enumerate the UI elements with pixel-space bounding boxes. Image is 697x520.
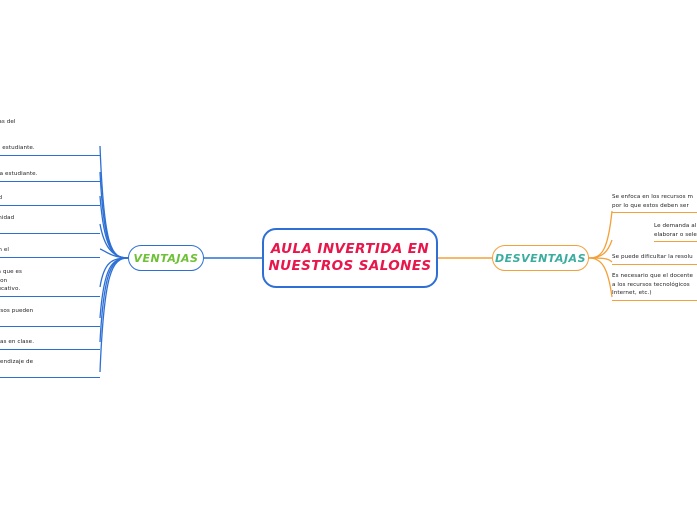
branch-node-ventajas[interactable]: VENTAJAS <box>128 245 204 271</box>
leaf-ventajas-9[interactable]: resolución de problemas en clase. <box>0 338 100 350</box>
leaf-ventajas-5[interactable]: miembros de la comunidad prendizaje. <box>0 214 100 234</box>
leaf-ventajas-6[interactable]: pensamiento critico en el <box>0 246 100 258</box>
leaf-desventajas-2[interactable]: Le demanda al elaborar o selec <box>654 222 697 242</box>
leaf-ventajas-1[interactable]: necesidades educativas del <box>0 118 100 129</box>
leaf-desventajas-3[interactable]: Se puede dificultar la resolu <box>612 253 697 265</box>
leaf-desventajas-1[interactable]: Se enfoca en los recursos m por lo que e… <box>612 193 697 213</box>
leaf-ventajas-7[interactable]: nplimiento en clase ya que es cia a los … <box>0 268 100 297</box>
central-topic-node[interactable]: AULA INVERTIDA EN NUESTROS SALONES <box>262 228 438 288</box>
leaf-desventajas-4[interactable]: Es necesario que el docente a los recurs… <box>612 272 697 301</box>
connector-group-desventajas <box>589 211 612 297</box>
leaf-ventajas-3[interactable]: de aprendizaje de cada estudiante. <box>0 170 100 182</box>
central-topic-title: AULA INVERTIDA EN NUESTROS SALONES <box>268 241 431 275</box>
connector-group-ventajas <box>100 146 128 372</box>
leaf-ventajas-2[interactable]: del docente para cada estudiante. <box>0 144 100 156</box>
leaf-ventajas-4[interactable]: pacio de interactividad <box>0 194 100 206</box>
leaf-ventajas-10[interactable]: ables de su propio aprendizaje de uía de… <box>0 358 100 378</box>
leaf-ventajas-8[interactable]: empo ya que los recursos pueden ones. <box>0 307 100 327</box>
branch-label-desventajas: DESVENTAJAS <box>495 252 586 265</box>
branch-label-ventajas: VENTAJAS <box>134 252 199 265</box>
mindmap-canvas: AULA INVERTIDA EN NUESTROS SALONES VENTA… <box>0 0 697 520</box>
branch-node-desventajas[interactable]: DESVENTAJAS <box>492 245 589 271</box>
